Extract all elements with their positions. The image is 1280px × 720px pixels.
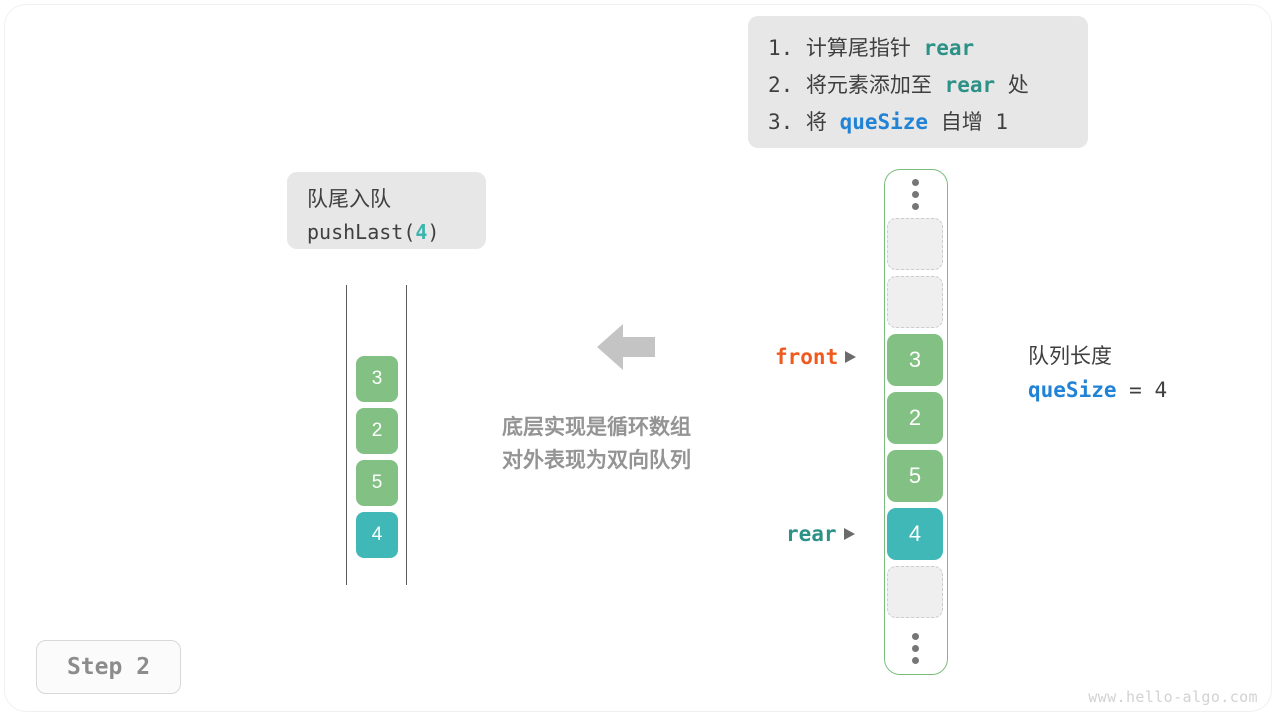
step-line-2: 2. 将元素添加至 rear 处: [768, 67, 1068, 104]
deque-cell: 2: [356, 408, 398, 454]
front-pointer-text: front: [775, 345, 838, 369]
array-slot-value: 3: [909, 347, 921, 373]
array-bottom-ellipsis-icon: [912, 624, 919, 672]
rear-pointer-label: rear: [786, 522, 855, 546]
left-arrow-icon: [597, 322, 655, 372]
step-3-prefix: 3. 将: [768, 110, 840, 134]
step-3-code: queSize: [840, 110, 929, 134]
caption-line-2: 对外表现为双向队列: [502, 444, 752, 477]
operation-call: pushLast(4): [307, 216, 486, 248]
operation-steps-box: 1. 计算尾指针 rear 2. 将元素添加至 rear 处 3. 将 queS…: [748, 16, 1088, 148]
front-pointer-label: front: [775, 345, 856, 369]
step-line-1: 1. 计算尾指针 rear: [768, 30, 1068, 67]
caption-text: 底层实现是循环数组 对外表现为双向队列: [502, 411, 752, 477]
rear-pointer-arrow-icon: [844, 528, 855, 540]
step-line-3: 3. 将 queSize 自增 1: [768, 104, 1068, 141]
rear-pointer-text: rear: [786, 522, 837, 546]
watermark: www.hello-algo.com: [1088, 688, 1258, 706]
deque-cell-value: 5: [372, 472, 383, 494]
deque-view: 3254: [346, 285, 408, 585]
step-1-prefix: 1. 计算尾指针: [768, 36, 924, 60]
array-slot: 4: [887, 508, 943, 560]
deque-cell: 5: [356, 460, 398, 506]
queue-size-var: queSize: [1028, 378, 1117, 402]
step-badge-label: Step 2: [67, 654, 150, 680]
front-pointer-arrow-icon: [845, 351, 856, 363]
array-slot: 2: [887, 392, 943, 444]
diagram-canvas: 1. 计算尾指针 rear 2. 将元素添加至 rear 处 3. 将 queS…: [0, 0, 1280, 720]
deque-cell-value: 2: [372, 420, 383, 442]
queue-size-value: 4: [1154, 378, 1167, 402]
operation-call-value: 4: [415, 220, 427, 244]
step-badge: Step 2: [36, 640, 181, 694]
queue-size-label: 队列长度: [1028, 341, 1248, 372]
deque-rail-left: [346, 285, 347, 585]
deque-cell: 4: [356, 512, 398, 558]
step-3-suffix: 自增 1: [928, 110, 1008, 134]
array-slot-value: 4: [909, 521, 921, 547]
array-slot: 5: [887, 450, 943, 502]
operation-label-box: 队尾入队 pushLast(4): [287, 172, 486, 249]
deque-rail-right: [406, 285, 407, 585]
circular-array-view: 3254: [884, 169, 948, 675]
step-2-prefix: 2. 将元素添加至: [768, 73, 945, 97]
array-slot-empty: [887, 218, 943, 270]
deque-cell-value: 4: [372, 524, 383, 546]
array-slot-value: 5: [909, 463, 921, 489]
deque-cell-value: 3: [372, 368, 383, 390]
step-1-code: rear: [924, 36, 975, 60]
deque-cell: 3: [356, 356, 398, 402]
queue-size-equals: =: [1129, 378, 1142, 402]
step-2-suffix: 处: [995, 73, 1029, 97]
array-slot-empty: [887, 566, 943, 618]
queue-size-expression: queSize = 4: [1028, 372, 1248, 408]
operation-call-suffix: ): [427, 220, 439, 244]
array-slot-value: 2: [909, 405, 921, 431]
caption-line-1: 底层实现是循环数组: [502, 411, 752, 444]
array-slot-empty: [887, 276, 943, 328]
step-2-code: rear: [945, 73, 996, 97]
array-top-ellipsis-icon: [912, 170, 919, 218]
array-slot-column: 3254: [885, 170, 945, 672]
array-slot: 3: [887, 334, 943, 386]
operation-title: 队尾入队: [307, 184, 486, 216]
deque-cell-stack: 3254: [356, 356, 398, 564]
queue-size-info: 队列长度 queSize = 4: [1028, 341, 1248, 408]
operation-call-prefix: pushLast(: [307, 220, 415, 244]
